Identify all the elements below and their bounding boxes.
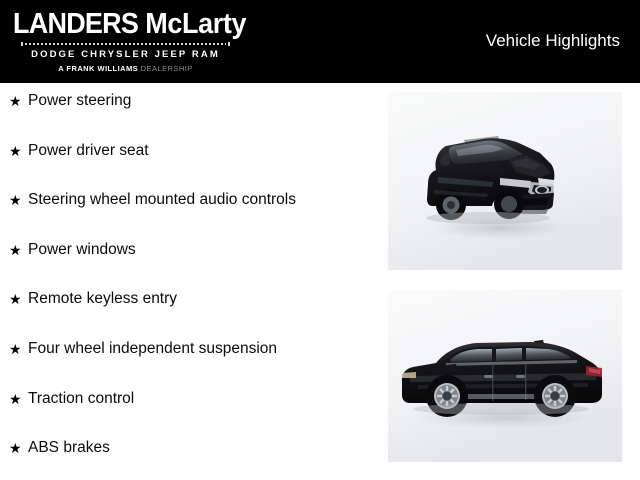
star-bullet-icon: ★ [9, 141, 28, 161]
feature-label: Power steering [28, 91, 131, 111]
logo-brand-name: LANDERS McLarty [13, 9, 222, 40]
logo-tagline-dealership: DEALERSHIP [138, 64, 193, 73]
feature-label: Traction control [28, 389, 134, 409]
feature-label: Power driver seat [28, 141, 149, 161]
star-bullet-icon: ★ [9, 190, 28, 210]
page-content: ★Power steering★Power driver seat★Steeri… [0, 83, 640, 480]
list-item: ★Four wheel independent suspension [9, 339, 277, 359]
list-item: ★Remote keyless entry [9, 289, 177, 309]
star-bullet-icon: ★ [9, 339, 28, 359]
logo-brand-landers: LANDERS [13, 8, 138, 40]
list-item: ★Traction control [9, 389, 134, 409]
star-bullet-icon: ★ [9, 389, 28, 409]
feature-label: ABS brakes [28, 438, 110, 458]
rule-dots [25, 43, 226, 45]
page-title: Vehicle Highlights [486, 31, 620, 51]
feature-label: Steering wheel mounted audio controls [28, 190, 296, 210]
logo-brand-list: DODGE CHRYSLER JEEP RAM [13, 49, 238, 60]
logo-tagline: A FRANK WILLIAMS DEALERSHIP [13, 64, 238, 73]
star-bullet-icon: ★ [9, 289, 28, 309]
feature-label: Remote keyless entry [28, 289, 177, 309]
dealership-logo[interactable]: LANDERS McLarty DODGE CHRYSLER JEEP RAM … [13, 9, 238, 73]
list-item: ★Power windows [9, 240, 136, 260]
vehicle-photo-front-three-quarter[interactable] [388, 92, 622, 270]
vehicle-photo-side-profile[interactable] [388, 290, 622, 462]
rule-tick-right [228, 42, 230, 46]
list-item: ★Power driver seat [9, 141, 149, 161]
list-item: ★Steering wheel mounted audio controls [9, 190, 296, 210]
list-item: ★Power steering [9, 91, 131, 111]
feature-label: Four wheel independent suspension [28, 339, 277, 359]
logo-brand-mclarty: McLarty [138, 8, 246, 40]
star-bullet-icon: ★ [9, 91, 28, 111]
logo-tagline-owner: A FRANK WILLIAMS [58, 64, 138, 73]
dotted-rule-icon [21, 42, 230, 46]
rule-tick-left [21, 42, 23, 46]
page-header: LANDERS McLarty DODGE CHRYSLER JEEP RAM … [0, 0, 640, 83]
star-bullet-icon: ★ [9, 438, 28, 458]
list-item: ★ABS brakes [9, 438, 110, 458]
star-bullet-icon: ★ [9, 240, 28, 260]
feature-label: Power windows [28, 240, 136, 260]
